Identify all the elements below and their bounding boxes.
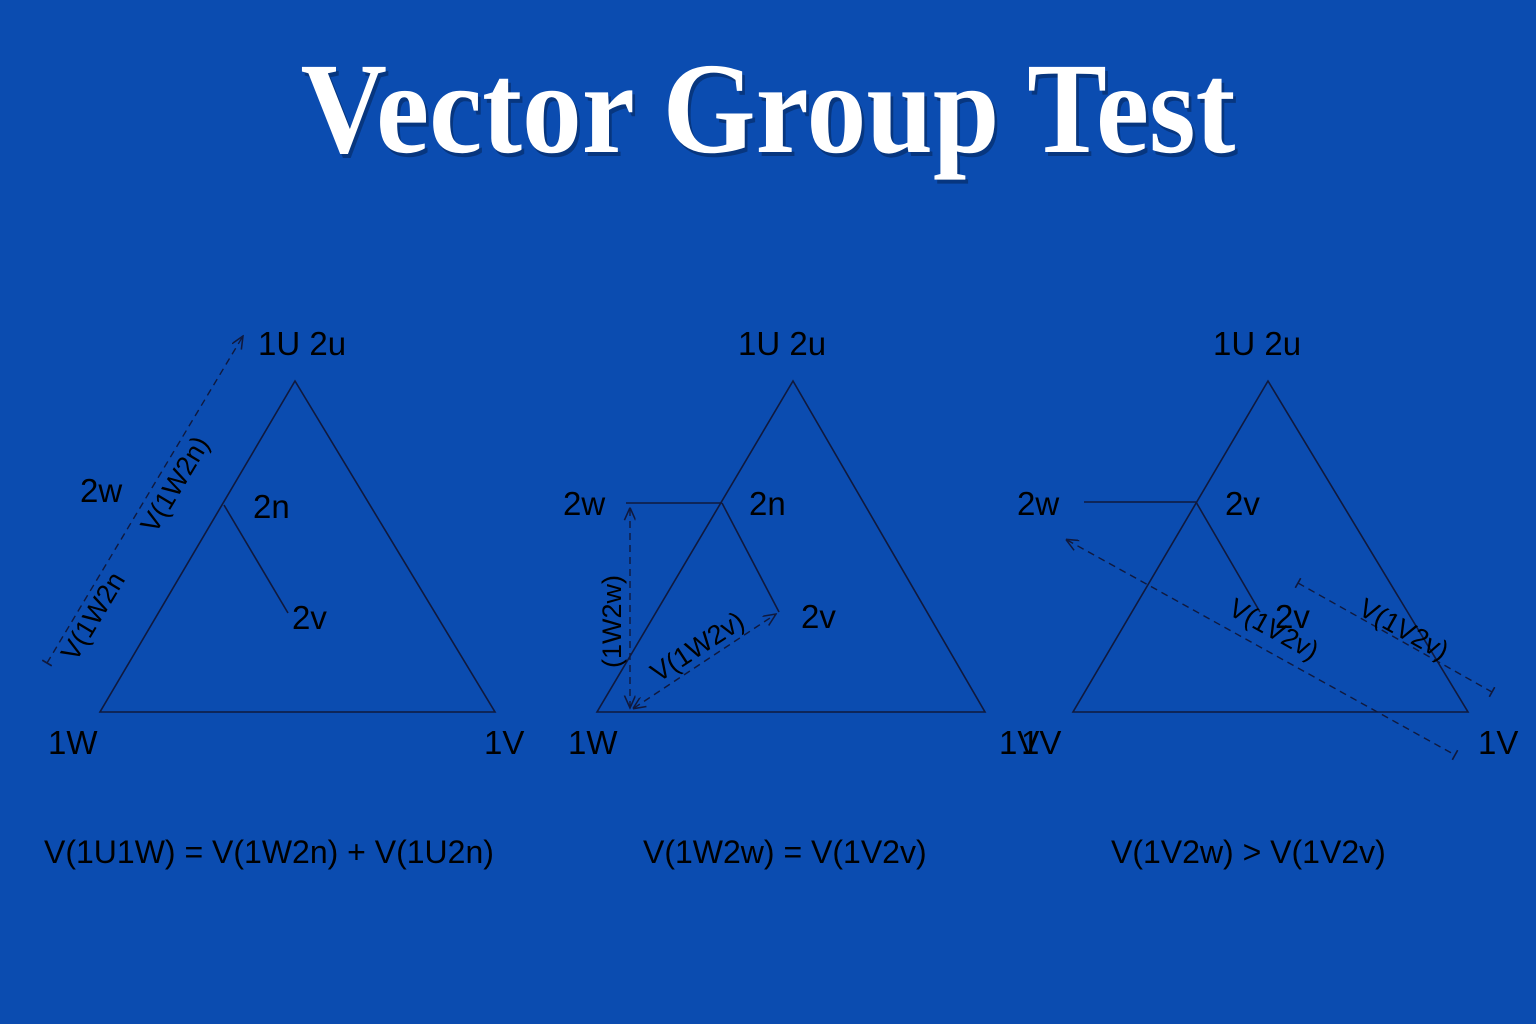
caption-1: V(1U1W) = V(1W2n) + V(1U2n): [44, 836, 494, 868]
label-2v-2: 2v: [801, 600, 836, 633]
bottom-right-label-3: 1V: [1478, 726, 1518, 759]
bottom-left-label-1: 1W: [48, 726, 98, 759]
label-2n-2: 2n: [749, 487, 786, 520]
caption-3: V(1V2w) > V(1V2v): [1111, 836, 1386, 868]
label-2v-1: 2v: [292, 601, 327, 634]
apex-label-3: 1U 2u: [1213, 327, 1301, 360]
label-2w-3: 2w: [1017, 487, 1059, 520]
apex-label-1: 1U 2u: [258, 327, 346, 360]
diagram-3-graphics: [1067, 381, 1492, 755]
vector-label-2a: (1W2w): [599, 575, 626, 668]
triangle-outline-1: [100, 381, 495, 712]
triangle-outline-3: [1073, 381, 1468, 712]
vector-arrow-3a: [1067, 540, 1455, 755]
bottom-right-label-1: 1V: [484, 726, 524, 759]
label-2n-1: 2n: [253, 490, 290, 523]
caption-2: V(1W2w) = V(1V2v): [643, 836, 927, 868]
bottom-left-label-2: 1W: [568, 726, 618, 759]
bottom-left-label-3: 1V: [1021, 726, 1061, 759]
label-2w-1: 2w: [80, 474, 122, 507]
label-2w-2: 2w: [563, 487, 605, 520]
apex-label-2: 1U 2u: [738, 327, 826, 360]
slide-canvas: Vector Group Test: [0, 0, 1536, 1024]
label-2v-3-top: 2v: [1225, 487, 1260, 520]
